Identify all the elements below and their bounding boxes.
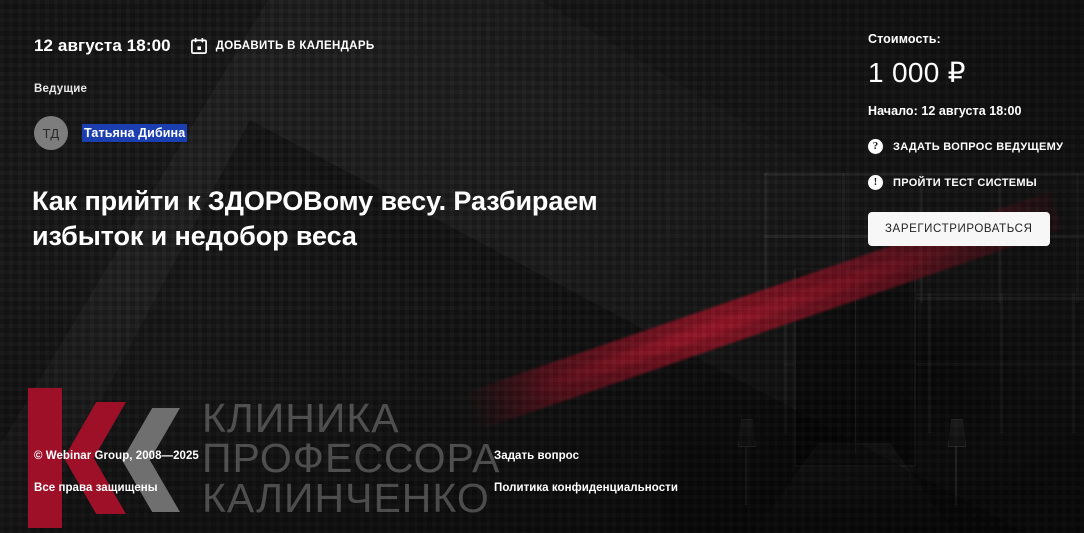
ask-host-question-button[interactable]: ? ЗАДАТЬ ВОПРОС ВЕДУЩЕМУ (868, 139, 1068, 154)
webinar-landing-page: КЛИНИКА ПРОФЕССОРА КАЛИНЧЕНКО 12 августа… (0, 0, 1084, 533)
calendar-icon (191, 38, 207, 54)
footer-link-privacy-policy[interactable]: Политика конфиденциальности (494, 482, 824, 494)
rights-text: Все права защищены (34, 482, 364, 494)
price-label: Стоимость: (868, 32, 1068, 46)
host-name[interactable]: Татьяна Дибина (82, 124, 187, 142)
start-time-label: Начало: 12 августа 18:00 (868, 104, 1068, 118)
host-avatar: ТД (34, 116, 68, 150)
event-info-panel: Стоимость: 1 000 ₽ Начало: 12 августа 18… (868, 32, 1068, 246)
copyright-text: © Webinar Group, 2008—2025 (34, 450, 364, 462)
footer-left: © Webinar Group, 2008—2025 Все права защ… (34, 450, 364, 494)
hosts-section-label: Ведущие (34, 83, 87, 95)
event-date: 12 августа 18:00 (34, 36, 171, 56)
page-content: 12 августа 18:00 ДОБАВИТЬ В КАЛЕНДАРЬ Ве… (0, 0, 1084, 533)
add-to-calendar-button[interactable]: ДОБАВИТЬ В КАЛЕНДАРЬ (191, 38, 375, 54)
register-button[interactable]: ЗАРЕГИСТРИРОВАТЬСЯ (868, 212, 1050, 246)
footer-right: Задать вопрос Политика конфиденциальност… (494, 450, 824, 494)
ask-host-question-label: ЗАДАТЬ ВОПРОС ВЕДУЩЕМУ (893, 141, 1063, 153)
exclamation-mark-circle-icon: ! (868, 175, 883, 190)
question-mark-circle-icon: ? (868, 139, 883, 154)
event-title: Как прийти к ЗДОРОВому весу. Разбираем и… (32, 184, 632, 253)
event-datetime-row: 12 августа 18:00 ДОБАВИТЬ В КАЛЕНДАРЬ (34, 36, 374, 56)
price-value: 1 000 ₽ (868, 56, 1068, 89)
system-test-button[interactable]: ! ПРОЙТИ ТЕСТ СИСТЕМЫ (868, 175, 1068, 190)
footer-link-ask-question[interactable]: Задать вопрос (494, 450, 824, 462)
system-test-label: ПРОЙТИ ТЕСТ СИСТЕМЫ (893, 177, 1037, 189)
add-to-calendar-label: ДОБАВИТЬ В КАЛЕНДАРЬ (216, 40, 375, 52)
host-row[interactable]: ТД Татьяна Дибина (34, 116, 187, 150)
